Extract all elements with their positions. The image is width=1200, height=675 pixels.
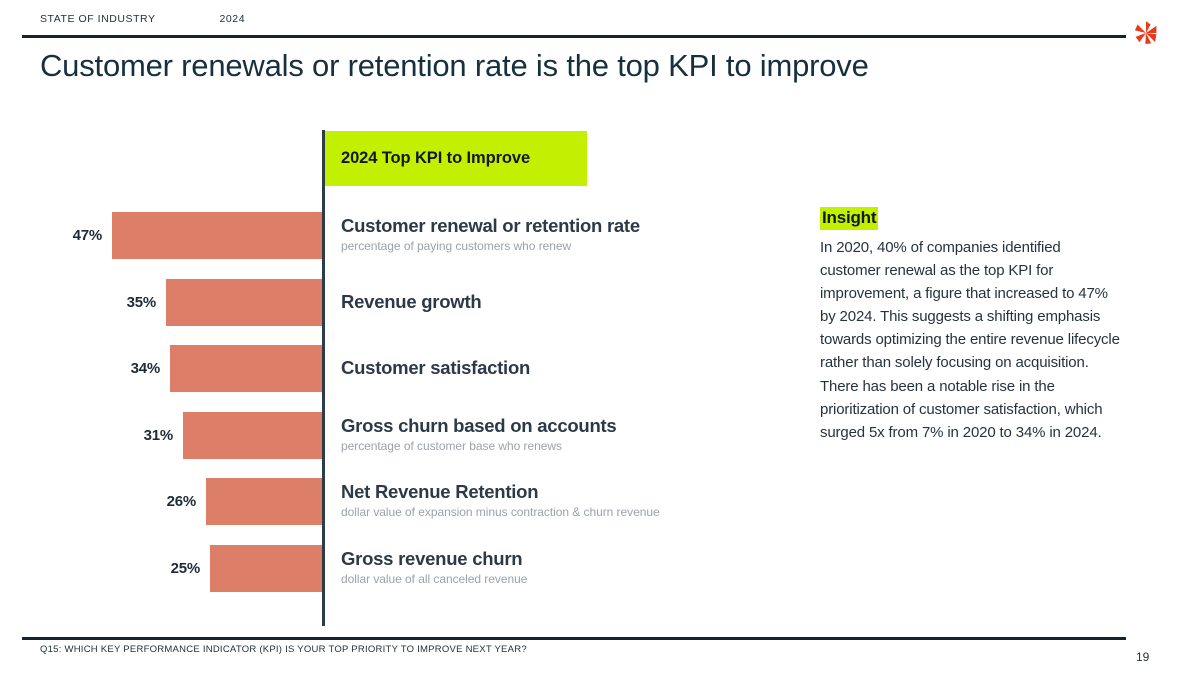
kpi-row-list: 47%Customer renewal or retention rateper… <box>0 0 760 675</box>
kpi-subtitle: dollar value of all canceled revenue <box>341 572 527 586</box>
slide: STATE OF INDUSTRY 2024 Customer renewals… <box>0 0 1200 675</box>
kpi-title: Revenue growth <box>341 291 481 312</box>
kpi-label-group: Customer renewal or retention ratepercen… <box>341 215 640 253</box>
bar-2 <box>166 279 322 326</box>
kpi-bar-chart: 2024 Top KPI to Improve 47%Customer rene… <box>0 0 760 675</box>
insight-heading: Insight <box>820 207 878 230</box>
kpi-subtitle: percentage of customer base who renews <box>341 439 616 453</box>
kpi-label-group: Gross revenue churndollar value of all c… <box>341 548 527 586</box>
kpi-subtitle: percentage of paying customers who renew <box>341 239 640 253</box>
asterisk-flower-logo-icon <box>1133 20 1159 46</box>
insight-panel: Insight In 2020, 40% of companies identi… <box>820 207 1120 444</box>
bar-4 <box>183 412 322 459</box>
kpi-label-group: Gross churn based on accountspercentage … <box>341 415 616 453</box>
insight-body: In 2020, 40% of companies identified cus… <box>820 236 1120 444</box>
bar-1 <box>112 212 322 259</box>
bar-value-label: 25% <box>171 545 200 592</box>
bar-6 <box>210 545 322 592</box>
bar-3 <box>170 345 322 392</box>
bar-value-label: 31% <box>144 412 173 459</box>
page-number: 19 <box>1136 650 1149 664</box>
kpi-subtitle: dollar value of expansion minus contract… <box>341 505 660 519</box>
bar-5 <box>206 478 322 525</box>
kpi-label-group: Customer satisfaction <box>341 357 530 378</box>
bar-value-label: 26% <box>167 478 196 525</box>
bar-value-label: 47% <box>73 212 102 259</box>
kpi-title: Customer renewal or retention rate <box>341 215 640 236</box>
bar-value-label: 35% <box>127 279 156 326</box>
kpi-title: Gross revenue churn <box>341 548 527 569</box>
footer-divider <box>22 637 1126 640</box>
kpi-label-group: Revenue growth <box>341 291 481 312</box>
bar-value-label: 34% <box>131 345 160 392</box>
kpi-title: Net Revenue Retention <box>341 481 660 502</box>
kpi-title: Customer satisfaction <box>341 357 530 378</box>
kpi-label-group: Net Revenue Retentiondollar value of exp… <box>341 481 660 519</box>
survey-question: Q15: WHICH KEY PERFORMANCE INDICATOR (KP… <box>40 644 527 655</box>
kpi-title: Gross churn based on accounts <box>341 415 616 436</box>
